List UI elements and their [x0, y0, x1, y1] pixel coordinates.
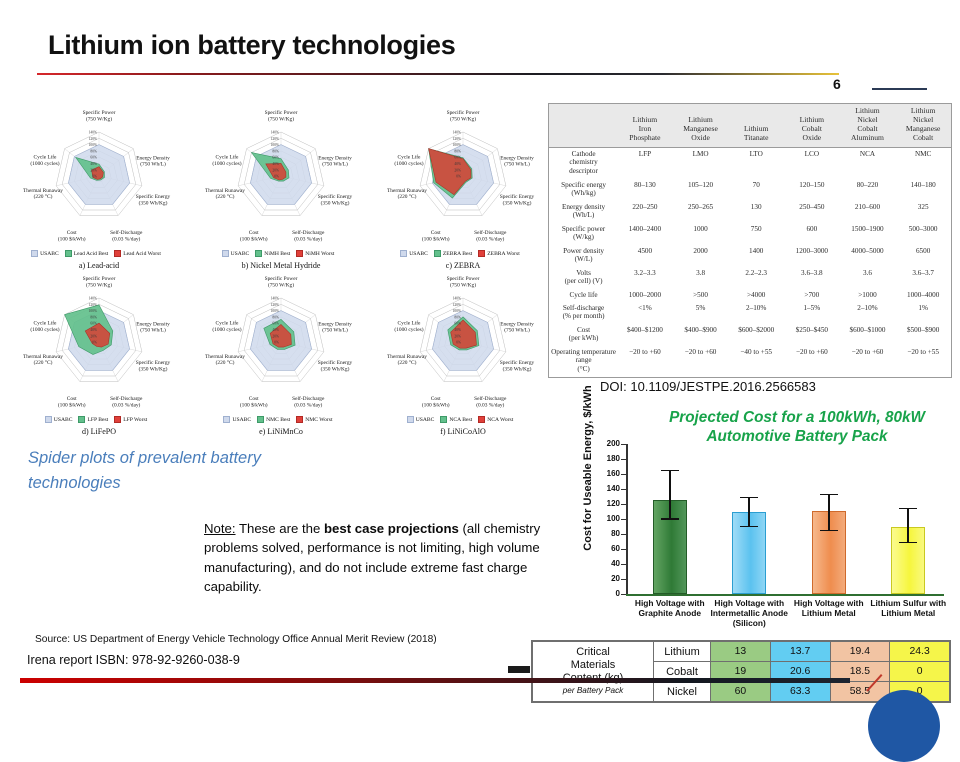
svg-text:Self-Discharge: Self-Discharge [110, 395, 143, 402]
legend-best: Lead Acid Best [65, 250, 109, 257]
spider-chart-svg: 0%20%40%60%80%100%120%140%Specific Power… [190, 104, 372, 270]
legend-swatch-usabc [222, 250, 229, 257]
svg-text:(350 Wh/Kg): (350 Wh/Kg) [321, 365, 350, 372]
y-axis-tick-mark [621, 504, 626, 505]
chem-row-label: Energy density(Wh/L) [549, 201, 617, 223]
svg-text:Thermal Runaway: Thermal Runaway [23, 188, 63, 194]
svg-text:Energy Density: Energy Density [318, 155, 352, 161]
spider-plot-2: 0%20%40%60%80%100%120%140%Specific Power… [190, 104, 372, 270]
legend-swatch-worst [478, 416, 485, 423]
legend-best: NiMH Best [255, 250, 290, 257]
svg-text:Cycle Life: Cycle Life [398, 319, 422, 326]
chem-cell: 120–150 [784, 179, 840, 201]
svg-text:Self-Discharge: Self-Discharge [474, 229, 507, 236]
spider-chart-svg: 0%20%40%60%80%100%120%140%Specific Power… [8, 270, 190, 436]
svg-text:(750 W/Kg): (750 W/Kg) [86, 115, 112, 122]
svg-text:(350 Wh/Kg): (350 Wh/Kg) [321, 199, 350, 206]
svg-text:0%: 0% [456, 175, 461, 179]
svg-text:Self-Discharge: Self-Discharge [292, 229, 325, 236]
chem-cell: 3.8 [673, 267, 729, 289]
chem-cell: 2000 [673, 245, 729, 267]
svg-text:Specific Power: Specific Power [265, 109, 298, 116]
spider-legend: USABCZEBRA BestZEBRA Worst [372, 250, 554, 257]
svg-text:(750 W/Kg): (750 W/Kg) [450, 281, 476, 288]
y-axis-tick-mark [621, 444, 626, 445]
doi-label: DOI: 10.1109/JESTPE.2016.2566583 [600, 379, 816, 394]
y-axis-tick-label: 40 [594, 559, 620, 568]
legend-swatch-usabc [31, 250, 38, 257]
chem-cell: >700 [784, 289, 840, 302]
table-header-row: LithiumIronPhosphateLithiumManganeseOxid… [549, 104, 951, 147]
chart-y-axis-label: Cost for Useable Energy, $/kWh [582, 378, 594, 558]
svg-text:(100 $/kWh): (100 $/kWh) [58, 401, 86, 408]
table-row: Cost(per kWh)$400–$1200$400–$900$600–$20… [549, 324, 951, 346]
chart-plot-area: 020406080100120140160180200High Voltage … [626, 444, 944, 594]
title-divider [37, 73, 839, 75]
svg-text:Specific Energy: Specific Energy [500, 359, 535, 366]
legend-swatch-worst [114, 250, 121, 257]
legend-usabc: USABC [400, 250, 428, 257]
svg-text:(0.03 %/day): (0.03 %/day) [294, 401, 322, 408]
critical-row-label: Nickel [654, 682, 711, 702]
svg-text:Specific Power: Specific Power [83, 275, 116, 282]
chem-row-label: Operating temperature range(°C) [549, 346, 617, 377]
x-axis-line [626, 594, 944, 596]
svg-text:(0.03 %/day): (0.03 %/day) [294, 235, 322, 242]
svg-text:60%: 60% [272, 322, 279, 326]
table-row: Volts(per cell) (V)3.2–3.33.82.2–2.33.6–… [549, 267, 951, 289]
legend-usabc: USABC [223, 416, 251, 423]
svg-text:120%: 120% [453, 137, 461, 141]
critical-cell: 0 [890, 662, 950, 682]
svg-text:140%: 140% [453, 297, 461, 301]
error-cap-2-upper [740, 497, 758, 499]
chem-cell: NMC [895, 147, 951, 178]
chem-col-header: LithiumIronPhosphate [617, 104, 673, 147]
svg-text:Specific Power: Specific Power [265, 275, 298, 282]
y-axis-tick-label: 0 [594, 589, 620, 598]
table-row: Cycle life1000–2000>500>4000>700>1000100… [549, 289, 951, 302]
error-bar-3 [828, 494, 830, 530]
svg-text:80%: 80% [454, 150, 461, 154]
spider-plot-5: 0%20%40%60%80%100%120%140%Specific Power… [190, 270, 372, 436]
chem-cell: 210–600 [840, 201, 896, 223]
svg-text:(350 Wh/Kg): (350 Wh/Kg) [139, 199, 168, 206]
svg-text:(100 $/kWh): (100 $/kWh) [240, 401, 268, 408]
svg-text:(0.03 %/day): (0.03 %/day) [476, 235, 504, 242]
spider-plot-6: 0%20%40%60%80%100%120%140%Specific Power… [372, 270, 554, 436]
chem-cell: $400–$1200 [617, 324, 673, 346]
chart-title: Projected Cost for a 100kWh, 80kW Automo… [634, 408, 960, 446]
chem-cell: 105–120 [673, 179, 729, 201]
spider-plot-caption: e) LiNiMnCo [190, 427, 372, 436]
y-axis-tick-mark [621, 489, 626, 490]
chem-cell: 500–3000 [895, 223, 951, 245]
svg-text:(750 W/Kg): (750 W/Kg) [268, 281, 294, 288]
legend-swatch-best [255, 250, 262, 257]
spider-plot-caption: b) Nickel Metal Hydride [190, 261, 372, 270]
error-cap-2-lower [740, 526, 758, 528]
svg-text:(350 Wh/Kg): (350 Wh/Kg) [503, 365, 532, 372]
svg-text:20%: 20% [454, 334, 461, 338]
legend-best: LFP Best [78, 416, 108, 423]
table-row: CriticalMaterialsContent (kg)per Battery… [533, 642, 950, 662]
svg-text:Cycle Life: Cycle Life [34, 153, 58, 160]
table-row: Specific energy(Wh/kg)80–130105–12070120… [549, 179, 951, 201]
legend-swatch-worst [478, 250, 485, 257]
chemistry-comparison-table: LithiumIronPhosphateLithiumManganeseOxid… [548, 103, 952, 378]
chem-cell: $600–$2000 [728, 324, 784, 346]
connector-dash [508, 666, 530, 673]
svg-text:Thermal Runaway: Thermal Runaway [387, 188, 427, 194]
svg-text:140%: 140% [271, 297, 279, 301]
svg-text:20%: 20% [272, 334, 279, 338]
chem-cell: −20 to +60 [840, 346, 896, 377]
chem-cell: >500 [673, 289, 729, 302]
svg-text:Specific Energy: Specific Energy [318, 193, 353, 200]
y-axis-tick-label: 120 [594, 499, 620, 508]
spider-plot-4: 0%20%40%60%80%100%120%140%Specific Power… [8, 270, 190, 436]
error-cap-1-upper [661, 470, 679, 472]
svg-text:Specific Power: Specific Power [447, 109, 480, 116]
svg-text:(750 W/Kg): (750 W/Kg) [450, 115, 476, 122]
legend-best: NCA Best [440, 416, 472, 423]
svg-text:60%: 60% [90, 156, 97, 160]
legend-swatch-best [257, 416, 264, 423]
svg-text:(1000 cycles): (1000 cycles) [212, 160, 241, 167]
svg-text:Energy Density: Energy Density [500, 155, 534, 161]
svg-text:(1000 cycles): (1000 cycles) [394, 326, 423, 333]
y-axis-tick-mark [621, 459, 626, 460]
legend-swatch-worst [114, 416, 121, 423]
svg-text:120%: 120% [453, 303, 461, 307]
svg-text:40%: 40% [90, 162, 97, 166]
svg-text:Cycle Life: Cycle Life [34, 319, 58, 326]
legend-usabc: USABC [45, 416, 73, 423]
svg-text:(750 Wh/L): (750 Wh/L) [322, 161, 348, 168]
svg-text:Cost: Cost [431, 396, 441, 402]
svg-text:40%: 40% [272, 328, 279, 332]
chem-cell: 4000–5000 [840, 245, 896, 267]
chem-cell: −20 to +60 [617, 346, 673, 377]
critical-cell: 63.3 [770, 682, 830, 702]
chem-cell: 5% [673, 302, 729, 324]
critical-cell: 13 [711, 642, 771, 662]
svg-text:100%: 100% [89, 309, 97, 313]
svg-text:Self-Discharge: Self-Discharge [292, 395, 325, 402]
chem-cell: 250–450 [784, 201, 840, 223]
legend-swatch-worst [296, 250, 303, 257]
chem-cell: $400–$900 [673, 324, 729, 346]
svg-text:(220 °C): (220 °C) [216, 193, 235, 200]
svg-text:Specific Energy: Specific Energy [136, 359, 171, 366]
spider-legend: USABCNMC BestNMC Worst [190, 416, 372, 423]
legend-usabc: USABC [222, 250, 250, 257]
svg-text:20%: 20% [272, 168, 279, 172]
legend-swatch-best [65, 250, 72, 257]
chem-cell: 70 [728, 179, 784, 201]
chem-cell: $250–$450 [784, 324, 840, 346]
spider-plot-caption: a) Lead-acid [8, 261, 190, 270]
svg-text:Self-Discharge: Self-Discharge [110, 229, 143, 236]
spider-plots-caption: Spider plots of prevalent battery techno… [28, 446, 358, 496]
error-bar-1 [669, 470, 671, 519]
chem-row-label: Self-discharge(% per month) [549, 302, 617, 324]
svg-text:(750 Wh/L): (750 Wh/L) [140, 327, 166, 334]
svg-text:0%: 0% [456, 341, 461, 345]
legend-best: ZEBRA Best [434, 250, 472, 257]
chem-cell: 1500–1900 [840, 223, 896, 245]
y-axis-tick-mark [621, 474, 626, 475]
y-axis-tick-label: 180 [594, 454, 620, 463]
critical-row-label: Lithium [654, 642, 711, 662]
table-row: Specific power(W/kg)1400–240010007506001… [549, 223, 951, 245]
legend-usabc: USABC [31, 250, 59, 257]
chem-cell: 80–130 [617, 179, 673, 201]
chem-col-header: LithiumNickelCobaltAluminum [840, 104, 896, 147]
chem-cell: LFP [617, 147, 673, 178]
chem-cell: 130 [728, 201, 784, 223]
spider-legend: USABCLead Acid BestLead Acid Worst [8, 250, 190, 257]
chem-row-label: Cathodechemistry descriptor [549, 147, 617, 178]
y-axis-tick-label: 160 [594, 469, 620, 478]
chem-cell: 220–250 [617, 201, 673, 223]
svg-text:(220 °C): (220 °C) [216, 359, 235, 366]
chem-cell: 2–10% [840, 302, 896, 324]
chem-cell: 3.6–3.7 [895, 267, 951, 289]
chem-cell: LCO [784, 147, 840, 178]
chem-cell: 3.6–3.8 [784, 267, 840, 289]
legend-worst: NCA Worst [478, 416, 513, 423]
svg-text:(350 Wh/Kg): (350 Wh/Kg) [139, 365, 168, 372]
chem-cell: 1% [895, 302, 951, 324]
y-axis-tick-label: 100 [594, 514, 620, 523]
svg-text:Thermal Runaway: Thermal Runaway [205, 188, 245, 194]
legend-swatch-best [434, 250, 441, 257]
error-bar-4 [907, 508, 909, 542]
spider-legend: USABCLFP BestLFP Worst [8, 416, 190, 423]
svg-text:(220 °C): (220 °C) [398, 359, 417, 366]
svg-text:100%: 100% [271, 143, 279, 147]
footer-divider [20, 678, 850, 683]
chem-cell: LMO [673, 147, 729, 178]
svg-text:100%: 100% [89, 143, 97, 147]
svg-text:140%: 140% [453, 131, 461, 135]
chem-cell: 3.2–3.3 [617, 267, 673, 289]
chem-cell: 2.2–2.3 [728, 267, 784, 289]
chem-cell: >1000 [840, 289, 896, 302]
svg-text:Cost: Cost [249, 396, 259, 402]
projected-cost-bar-chart: Projected Cost for a 100kWh, 80kW Automo… [560, 404, 960, 628]
chem-cell: 325 [895, 201, 951, 223]
chem-cell: 750 [728, 223, 784, 245]
spider-chart-svg: 0%20%40%60%80%100%120%140%Specific Power… [372, 104, 554, 270]
svg-text:80%: 80% [272, 316, 279, 320]
legend-worst: LFP Worst [114, 416, 147, 423]
chem-cell: −20 to +55 [895, 346, 951, 377]
svg-text:(750 Wh/L): (750 Wh/L) [504, 161, 530, 168]
svg-text:80%: 80% [272, 150, 279, 154]
isbn-line: Irena report ISBN: 978-92-9260-038-9 [27, 653, 240, 667]
chem-col-header: LithiumManganeseOxide [673, 104, 729, 147]
chem-col-header: LithiumTitanate [728, 104, 784, 147]
svg-text:0%: 0% [92, 341, 97, 345]
svg-text:Cost: Cost [431, 230, 441, 236]
svg-text:(750 Wh/L): (750 Wh/L) [504, 327, 530, 334]
spider-chart-svg: 0%20%40%60%80%100%120%140%Specific Power… [190, 270, 372, 436]
svg-text:40%: 40% [454, 328, 461, 332]
legend-worst: Lead Acid Worst [114, 250, 161, 257]
chem-row-label: Volts(per cell) (V) [549, 267, 617, 289]
svg-text:140%: 140% [89, 131, 97, 135]
svg-text:20%: 20% [454, 168, 461, 172]
svg-text:80%: 80% [90, 150, 97, 154]
svg-text:Energy Density: Energy Density [318, 321, 352, 327]
page-number: 6 [833, 76, 841, 92]
error-bar-2 [748, 497, 750, 526]
chem-cell: −40 to +55 [728, 346, 784, 377]
svg-text:Specific Energy: Specific Energy [318, 359, 353, 366]
chem-cell: 80–220 [840, 179, 896, 201]
svg-text:60%: 60% [272, 156, 279, 160]
svg-text:(0.03 %/day): (0.03 %/day) [112, 401, 140, 408]
table-row: Power density(W/L)4500200014001200–30004… [549, 245, 951, 267]
y-axis-tick-mark [621, 534, 626, 535]
svg-text:120%: 120% [89, 137, 97, 141]
y-axis-line [626, 444, 628, 594]
spider-legend: USABCNiMH BestNiMH Worst [190, 250, 372, 257]
svg-text:(220 °C): (220 °C) [34, 359, 53, 366]
critical-materials-label: CriticalMaterialsContent (kg)per Battery… [533, 642, 654, 702]
error-cap-3-lower [820, 530, 838, 532]
svg-text:100%: 100% [453, 309, 461, 313]
chem-row-label: Power density(W/L) [549, 245, 617, 267]
svg-text:Specific Energy: Specific Energy [500, 193, 535, 200]
spider-plot-3: 0%20%40%60%80%100%120%140%Specific Power… [372, 104, 554, 270]
svg-text:(750 W/Kg): (750 W/Kg) [86, 281, 112, 288]
chem-cell: 250–265 [673, 201, 729, 223]
error-cap-1-lower [661, 518, 679, 520]
svg-text:100%: 100% [453, 143, 461, 147]
svg-text:120%: 120% [271, 303, 279, 307]
error-cap-3-upper [820, 494, 838, 496]
svg-text:60%: 60% [454, 322, 461, 326]
legend-worst: NiMH Worst [296, 250, 334, 257]
svg-text:Thermal Runaway: Thermal Runaway [205, 354, 245, 360]
table-row: Cathodechemistry descriptorLFPLMOLTOLCON… [549, 147, 951, 178]
svg-text:0%: 0% [274, 175, 279, 179]
legend-swatch-usabc [407, 416, 414, 423]
critical-cell: 24.3 [890, 642, 950, 662]
chem-row-label: Cycle life [549, 289, 617, 302]
legend-worst: ZEBRA Worst [478, 250, 520, 257]
chem-cell: 2–10% [728, 302, 784, 324]
svg-text:60%: 60% [454, 156, 461, 160]
table-row: Self-discharge(% per month)<1%5%2–10%1–5… [549, 302, 951, 324]
svg-text:(100 $/kWh): (100 $/kWh) [422, 235, 450, 242]
y-axis-tick-label: 140 [594, 484, 620, 493]
svg-text:Cost: Cost [67, 230, 77, 236]
chem-row-label: Cost(per kWh) [549, 324, 617, 346]
note-lead: Note: [204, 521, 236, 536]
table-row: Operating temperature range(°C)−20 to +6… [549, 346, 951, 377]
svg-text:(100 $/kWh): (100 $/kWh) [240, 235, 268, 242]
chem-cell: −20 to +60 [784, 346, 840, 377]
legend-swatch-worst [296, 416, 303, 423]
note-bold: best case projections [324, 521, 459, 536]
source-line: Source: US Department of Energy Vehicle … [35, 634, 437, 645]
chem-cell: $500–$900 [895, 324, 951, 346]
legend-worst: NMC Worst [296, 416, 332, 423]
svg-text:20%: 20% [90, 334, 97, 338]
svg-text:Specific Energy: Specific Energy [136, 193, 171, 200]
critical-cell: 13.7 [770, 642, 830, 662]
chem-cell: $600–$1000 [840, 324, 896, 346]
svg-text:120%: 120% [271, 137, 279, 141]
svg-text:(220 °C): (220 °C) [34, 193, 53, 200]
note-part1: These are the [236, 521, 324, 536]
y-axis-tick-label: 60 [594, 544, 620, 553]
critical-cell: 19.4 [830, 642, 890, 662]
chem-cell: 6500 [895, 245, 951, 267]
y-axis-tick-mark [621, 564, 626, 565]
chem-cell: 1400 [728, 245, 784, 267]
svg-text:120%: 120% [89, 303, 97, 307]
svg-text:(1000 cycles): (1000 cycles) [30, 160, 59, 167]
spider-plot-caption: f) LiNiCoAlO [372, 427, 554, 436]
svg-text:Cycle Life: Cycle Life [398, 153, 422, 160]
chem-cell: <1% [617, 302, 673, 324]
chem-cell: 3.6 [840, 267, 896, 289]
chem-cell: 1200–3000 [784, 245, 840, 267]
legend-usabc: USABC [407, 416, 435, 423]
chem-col-header: LithiumCobaltOxide [784, 104, 840, 147]
svg-text:Cycle Life: Cycle Life [216, 153, 240, 160]
spider-legend: USABCNCA BestNCA Worst [372, 416, 554, 423]
chem-cell: −20 to +60 [673, 346, 729, 377]
chem-row-label: Specific energy(Wh/kg) [549, 179, 617, 201]
chem-cell: 4500 [617, 245, 673, 267]
svg-text:0%: 0% [274, 341, 279, 345]
svg-text:Energy Density: Energy Density [136, 321, 170, 327]
spider-chart-svg: 0%20%40%60%80%100%120%140%Specific Power… [8, 104, 190, 270]
svg-text:Energy Density: Energy Density [500, 321, 534, 327]
chem-col-header: LithiumNickelManganeseCobalt [895, 104, 951, 147]
brand-logo [868, 690, 940, 762]
svg-text:(750 W/Kg): (750 W/Kg) [268, 115, 294, 122]
legend-swatch-usabc [45, 416, 52, 423]
chem-cell: 1000–4000 [895, 289, 951, 302]
legend-best: NMC Best [257, 416, 290, 423]
svg-text:Specific Power: Specific Power [83, 109, 116, 116]
svg-text:20%: 20% [90, 168, 97, 172]
svg-text:(750 Wh/L): (750 Wh/L) [322, 327, 348, 334]
svg-text:Thermal Runaway: Thermal Runaway [387, 354, 427, 360]
error-cap-4-lower [899, 542, 917, 544]
svg-text:40%: 40% [272, 162, 279, 166]
svg-text:Specific Power: Specific Power [447, 275, 480, 282]
svg-text:Cost: Cost [249, 230, 259, 236]
svg-text:(220 °C): (220 °C) [398, 193, 417, 200]
chem-cell: LTO [728, 147, 784, 178]
legend-swatch-best [78, 416, 85, 423]
critical-cell: 60 [711, 682, 771, 702]
spider-chart-svg: 0%20%40%60%80%100%120%140%Specific Power… [372, 270, 554, 436]
svg-text:(100 $/kWh): (100 $/kWh) [58, 235, 86, 242]
svg-text:Cycle Life: Cycle Life [216, 319, 240, 326]
svg-text:(0.03 %/day): (0.03 %/day) [112, 235, 140, 242]
chem-cell: 600 [784, 223, 840, 245]
